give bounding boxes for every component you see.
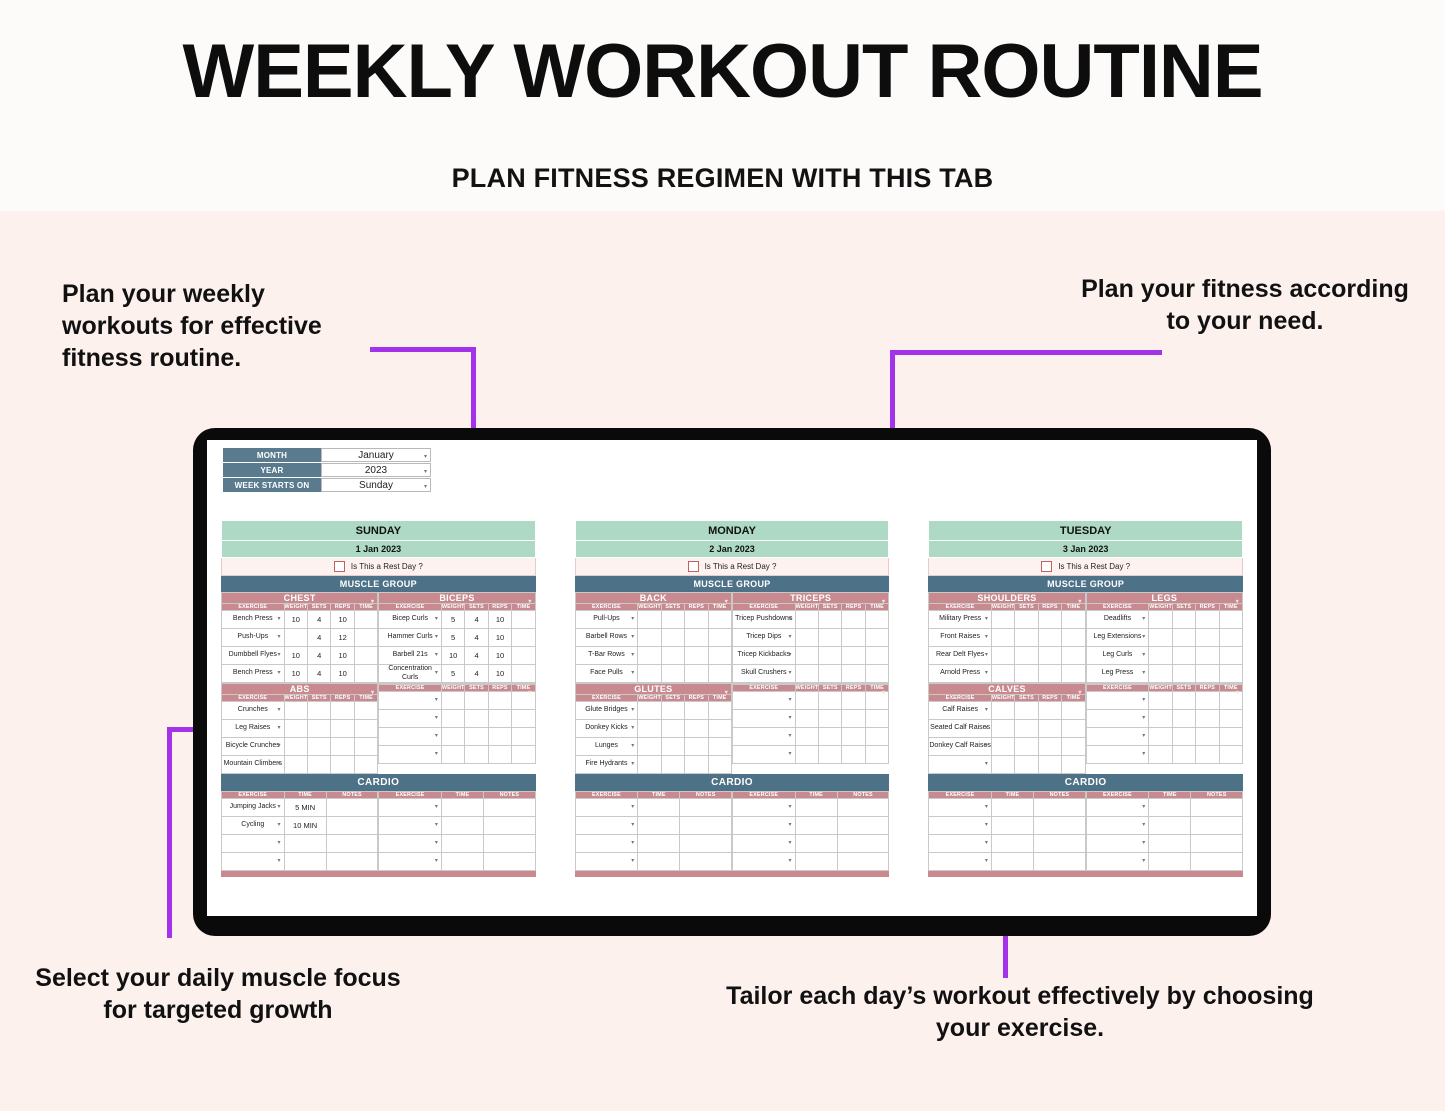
sets-cell[interactable] [819,710,842,728]
weight-cell[interactable] [991,756,1014,774]
cardio-exercise-dropdown[interactable]: ▾ [379,853,442,871]
cardio-notes-cell[interactable] [1034,799,1086,817]
weight-cell[interactable]: 10 [284,611,307,629]
sets-cell[interactable] [1015,720,1038,738]
chevron-down-icon[interactable]: ▾ [435,804,438,811]
time-cell[interactable] [1219,629,1242,647]
sets-cell[interactable] [819,728,842,746]
chevron-down-icon[interactable]: ▾ [278,616,281,623]
weight-cell[interactable]: 5 [441,629,464,647]
sets-cell[interactable] [1172,728,1195,746]
chevron-down-icon[interactable]: ▾ [789,840,792,847]
cardio-notes-cell[interactable] [1191,853,1243,871]
cardio-time-cell[interactable] [441,799,483,817]
reps-cell[interactable] [685,756,708,774]
reps-cell[interactable] [842,710,865,728]
reps-cell[interactable] [488,728,511,746]
cardio-time-cell[interactable] [1149,853,1191,871]
reps-cell[interactable] [1196,746,1219,764]
exercise-dropdown[interactable]: Tricep Dips▾ [733,629,796,647]
reps-cell[interactable] [1196,728,1219,746]
cardio-time-cell[interactable] [284,853,326,871]
chevron-down-icon[interactable]: ▾ [789,804,792,811]
sets-cell[interactable] [661,702,684,720]
time-cell[interactable] [708,665,731,683]
cardio-time-cell[interactable] [638,799,680,817]
reps-cell[interactable] [1196,611,1219,629]
chevron-down-icon[interactable]: ▾ [789,751,792,758]
cardio-notes-cell[interactable] [837,817,889,835]
exercise-dropdown[interactable]: Hammer Curls▾ [379,629,442,647]
cardio-exercise-dropdown[interactable]: Cycling▾ [222,817,285,835]
reps-cell[interactable] [1038,611,1061,629]
cardio-exercise-dropdown[interactable]: ▾ [222,835,285,853]
exercise-dropdown[interactable]: Arnold Press▾ [929,665,992,683]
cardio-notes-cell[interactable] [837,799,889,817]
chevron-down-icon[interactable]: ▾ [1142,733,1145,740]
chevron-down-icon[interactable]: ▾ [985,804,988,811]
weight-cell[interactable]: 10 [284,647,307,665]
chevron-down-icon[interactable]: ▾ [1142,670,1145,677]
weight-cell[interactable] [284,756,307,774]
cardio-notes-cell[interactable] [1191,835,1243,853]
chevron-down-icon[interactable]: ▾ [985,652,988,659]
cardio-exercise-dropdown[interactable]: ▾ [929,853,992,871]
time-cell[interactable] [865,647,888,665]
time-cell[interactable] [512,710,535,728]
weight-cell[interactable] [991,611,1014,629]
exercise-dropdown[interactable]: ▾ [733,746,796,764]
cardio-notes-cell[interactable] [484,853,536,871]
cardio-time-cell[interactable] [991,835,1033,853]
exercise-dropdown[interactable]: ▾ [733,728,796,746]
cardio-notes-cell[interactable] [326,853,378,871]
chevron-down-icon[interactable]: ▾ [631,725,634,732]
chevron-down-icon[interactable]: ▾ [985,858,988,865]
reps-cell[interactable] [1196,710,1219,728]
chevron-down-icon[interactable]: ▾ [1078,689,1081,696]
exercise-dropdown[interactable]: ▾ [1086,692,1149,710]
time-cell[interactable] [354,738,377,756]
chevron-down-icon[interactable]: ▾ [435,670,438,677]
cardio-exercise-dropdown[interactable]: ▾ [1086,835,1149,853]
time-cell[interactable] [354,720,377,738]
chevron-down-icon[interactable]: ▾ [278,761,281,768]
chevron-down-icon[interactable]: ▾ [631,840,634,847]
cardio-notes-cell[interactable] [326,835,378,853]
reps-cell[interactable]: 10 [488,647,511,665]
cardio-notes-cell[interactable] [1191,799,1243,817]
sets-cell[interactable] [1015,702,1038,720]
cardio-time-cell[interactable] [284,835,326,853]
weight-cell[interactable] [441,728,464,746]
cardio-notes-cell[interactable] [680,835,732,853]
sets-cell[interactable] [1172,611,1195,629]
cardio-notes-cell[interactable] [1034,835,1086,853]
chevron-down-icon[interactable]: ▾ [789,652,792,659]
exercise-dropdown[interactable]: Seated Calf Raises▾ [929,720,992,738]
sets-cell[interactable] [465,746,488,764]
weight-cell[interactable] [638,738,661,756]
cardio-exercise-dropdown[interactable]: ▾ [379,835,442,853]
chevron-down-icon[interactable]: ▾ [631,616,634,623]
cardio-exercise-dropdown[interactable]: ▾ [575,835,638,853]
chevron-down-icon[interactable]: ▾ [278,707,281,714]
weight-cell[interactable] [441,746,464,764]
time-cell[interactable] [865,629,888,647]
chevron-down-icon[interactable]: ▾ [424,483,427,490]
exercise-dropdown[interactable]: ▾ [379,728,442,746]
time-cell[interactable] [1062,629,1085,647]
time-cell[interactable] [512,647,535,665]
chevron-down-icon[interactable]: ▾ [631,652,634,659]
cardio-time-cell[interactable] [795,835,837,853]
weight-cell[interactable] [441,692,464,710]
chevron-down-icon[interactable]: ▾ [424,453,427,460]
cardio-exercise-dropdown[interactable]: ▾ [1086,853,1149,871]
chevron-down-icon[interactable]: ▾ [1142,858,1145,865]
time-cell[interactable] [1062,611,1085,629]
cardio-notes-cell[interactable] [484,799,536,817]
weight-cell[interactable] [1149,611,1172,629]
weight-cell[interactable] [1149,710,1172,728]
exercise-dropdown[interactable]: Rear Delt Flyes▾ [929,647,992,665]
weight-cell[interactable] [991,720,1014,738]
time-cell[interactable] [1062,738,1085,756]
chevron-down-icon[interactable]: ▾ [278,822,281,829]
sets-cell[interactable] [1172,629,1195,647]
rest-day-checkbox[interactable] [334,561,345,572]
sets-cell[interactable] [1015,629,1038,647]
exercise-dropdown[interactable]: T-Bar Rows▾ [575,647,638,665]
weight-cell[interactable] [1149,629,1172,647]
cardio-exercise-dropdown[interactable]: ▾ [733,799,796,817]
chevron-down-icon[interactable]: ▾ [435,733,438,740]
chevron-down-icon[interactable]: ▾ [435,751,438,758]
weight-cell[interactable] [638,629,661,647]
weight-cell[interactable] [795,629,818,647]
sets-cell[interactable] [1172,710,1195,728]
cardio-exercise-dropdown[interactable]: Jumping Jacks▾ [222,799,285,817]
cardio-time-cell[interactable] [638,835,680,853]
chevron-down-icon[interactable]: ▾ [435,822,438,829]
exercise-dropdown[interactable]: Concentration Curls▾ [379,665,442,683]
exercise-dropdown[interactable]: Donkey Kicks▾ [575,720,638,738]
reps-cell[interactable] [1196,692,1219,710]
sets-cell[interactable] [307,756,330,774]
time-cell[interactable] [354,629,377,647]
reps-cell[interactable] [842,692,865,710]
chevron-down-icon[interactable]: ▾ [985,761,988,768]
cardio-time-cell[interactable] [795,817,837,835]
cardio-notes-cell[interactable] [837,853,889,871]
exercise-dropdown[interactable]: ▾ [1086,728,1149,746]
sets-cell[interactable] [819,611,842,629]
reps-cell[interactable] [685,665,708,683]
cardio-notes-cell[interactable] [484,835,536,853]
reps-cell[interactable] [331,756,354,774]
cardio-exercise-dropdown[interactable]: ▾ [222,853,285,871]
cardio-time-cell[interactable] [441,835,483,853]
muscle-group-selector[interactable]: LEGS▾ [1086,593,1242,604]
cardio-time-cell[interactable] [638,853,680,871]
weight-cell[interactable] [991,629,1014,647]
sets-cell[interactable] [1015,756,1038,774]
exercise-dropdown[interactable]: Calf Raises▾ [929,702,992,720]
chevron-down-icon[interactable]: ▾ [725,598,728,605]
weight-cell[interactable] [991,702,1014,720]
chevron-down-icon[interactable]: ▾ [435,652,438,659]
chevron-down-icon[interactable]: ▾ [1142,616,1145,623]
exercise-dropdown[interactable]: ▾ [733,692,796,710]
weight-cell[interactable] [284,629,307,647]
cardio-exercise-dropdown[interactable]: ▾ [575,799,638,817]
cardio-time-cell[interactable] [441,853,483,871]
reps-cell[interactable]: 10 [488,665,511,683]
exercise-dropdown[interactable]: ▾ [1086,710,1149,728]
cardio-time-cell[interactable]: 10 MIN [284,817,326,835]
chevron-down-icon[interactable]: ▾ [1236,598,1239,605]
sets-cell[interactable] [465,728,488,746]
chevron-down-icon[interactable]: ▾ [882,689,885,696]
exercise-dropdown[interactable]: ▾ [379,692,442,710]
reps-cell[interactable] [1038,738,1061,756]
weight-cell[interactable] [284,702,307,720]
cardio-exercise-dropdown[interactable]: ▾ [733,853,796,871]
sets-cell[interactable] [1015,611,1038,629]
time-cell[interactable] [512,665,535,683]
time-cell[interactable] [1219,710,1242,728]
time-cell[interactable] [354,647,377,665]
cardio-time-cell[interactable] [1149,835,1191,853]
chevron-down-icon[interactable]: ▾ [278,725,281,732]
reps-cell[interactable] [331,738,354,756]
time-cell[interactable] [865,611,888,629]
weight-cell[interactable] [284,738,307,756]
cardio-notes-cell[interactable] [484,817,536,835]
sets-cell[interactable] [819,746,842,764]
chevron-down-icon[interactable]: ▾ [371,689,374,696]
reps-cell[interactable] [1038,647,1061,665]
reps-cell[interactable]: 10 [488,629,511,647]
chevron-down-icon[interactable]: ▾ [1142,634,1145,641]
reps-cell[interactable] [842,746,865,764]
weight-cell[interactable] [795,647,818,665]
setting-value-dropdown[interactable]: January▾ [321,448,431,462]
sets-cell[interactable]: 4 [465,647,488,665]
exercise-dropdown[interactable]: Skull Crushers▾ [733,665,796,683]
cardio-exercise-dropdown[interactable]: ▾ [575,817,638,835]
sets-cell[interactable] [1015,647,1038,665]
cardio-exercise-dropdown[interactable]: ▾ [1086,799,1149,817]
chevron-down-icon[interactable]: ▾ [985,822,988,829]
time-cell[interactable] [1219,611,1242,629]
time-cell[interactable] [1062,720,1085,738]
exercise-dropdown[interactable]: ▾ [379,746,442,764]
chevron-down-icon[interactable]: ▾ [1142,715,1145,722]
chevron-down-icon[interactable]: ▾ [1078,598,1081,605]
chevron-down-icon[interactable]: ▾ [631,634,634,641]
sets-cell[interactable]: 4 [307,611,330,629]
sets-cell[interactable] [661,738,684,756]
time-cell[interactable] [1062,647,1085,665]
cardio-notes-cell[interactable] [326,817,378,835]
exercise-dropdown[interactable]: Military Press▾ [929,611,992,629]
sets-cell[interactable] [465,710,488,728]
cardio-notes-cell[interactable] [680,817,732,835]
weight-cell[interactable]: 10 [441,647,464,665]
exercise-dropdown[interactable]: Glute Bridges▾ [575,702,638,720]
weight-cell[interactable] [284,720,307,738]
chevron-down-icon[interactable]: ▾ [789,697,792,704]
exercise-dropdown[interactable]: Lunges▾ [575,738,638,756]
weight-cell[interactable] [1149,746,1172,764]
sets-cell[interactable] [1015,738,1038,756]
chevron-down-icon[interactable]: ▾ [631,761,634,768]
exercise-dropdown[interactable]: Fire Hydrants▾ [575,756,638,774]
exercise-dropdown[interactable]: Bicep Curls▾ [379,611,442,629]
chevron-down-icon[interactable]: ▾ [1142,697,1145,704]
exercise-dropdown[interactable]: Face Pulls▾ [575,665,638,683]
chevron-down-icon[interactable]: ▾ [985,616,988,623]
weight-cell[interactable] [1149,692,1172,710]
cardio-notes-cell[interactable] [326,799,378,817]
reps-cell[interactable] [685,702,708,720]
time-cell[interactable] [1062,756,1085,774]
sets-cell[interactable] [661,629,684,647]
weight-cell[interactable] [795,692,818,710]
weight-cell[interactable] [638,665,661,683]
cardio-exercise-dropdown[interactable]: ▾ [929,799,992,817]
weight-cell[interactable] [991,665,1014,683]
muscle-group-selector[interactable]: ABS▾ [222,684,378,695]
time-cell[interactable] [865,746,888,764]
chevron-down-icon[interactable]: ▾ [278,804,281,811]
chevron-down-icon[interactable]: ▾ [424,468,427,475]
reps-cell[interactable] [842,611,865,629]
time-cell[interactable] [708,611,731,629]
chevron-down-icon[interactable]: ▾ [371,598,374,605]
time-cell[interactable] [1219,728,1242,746]
chevron-down-icon[interactable]: ▾ [789,733,792,740]
chevron-down-icon[interactable]: ▾ [278,840,281,847]
time-cell[interactable] [1219,665,1242,683]
chevron-down-icon[interactable]: ▾ [435,616,438,623]
cardio-exercise-dropdown[interactable]: ▾ [929,835,992,853]
cardio-notes-cell[interactable] [1191,817,1243,835]
chevron-down-icon[interactable]: ▾ [278,652,281,659]
weight-cell[interactable] [638,611,661,629]
muscle-group-selector[interactable]: TRICEPS▾ [733,593,889,604]
chevron-down-icon[interactable]: ▾ [985,670,988,677]
sets-cell[interactable] [819,665,842,683]
reps-cell[interactable] [488,692,511,710]
exercise-dropdown[interactable]: Tricep Kickbacks▾ [733,647,796,665]
reps-cell[interactable]: 12 [331,629,354,647]
chevron-down-icon[interactable]: ▾ [985,743,988,750]
time-cell[interactable] [512,629,535,647]
rest-day-checkbox[interactable] [688,561,699,572]
exercise-dropdown[interactable]: Front Raises▾ [929,629,992,647]
cardio-notes-cell[interactable] [680,799,732,817]
muscle-group-selector[interactable]: ▾ [379,684,535,685]
exercise-dropdown[interactable]: Dumbbell Flyes▾ [222,647,285,665]
exercise-dropdown[interactable]: Bench Press▾ [222,611,285,629]
chevron-down-icon[interactable]: ▾ [631,804,634,811]
sets-cell[interactable]: 4 [307,629,330,647]
chevron-down-icon[interactable]: ▾ [1142,751,1145,758]
sets-cell[interactable] [307,702,330,720]
muscle-group-selector[interactable]: ▾ [733,684,889,685]
weight-cell[interactable] [638,756,661,774]
reps-cell[interactable]: 10 [331,611,354,629]
cardio-time-cell[interactable] [638,817,680,835]
chevron-down-icon[interactable]: ▾ [278,858,281,865]
sets-cell[interactable]: 4 [307,665,330,683]
reps-cell[interactable] [1038,665,1061,683]
chevron-down-icon[interactable]: ▾ [882,598,885,605]
weight-cell[interactable] [638,720,661,738]
time-cell[interactable] [865,710,888,728]
weight-cell[interactable]: 10 [284,665,307,683]
exercise-dropdown[interactable]: Mountain Climbers▾ [222,756,285,774]
sets-cell[interactable] [1172,746,1195,764]
muscle-group-selector[interactable]: SHOULDERS▾ [929,593,1085,604]
sets-cell[interactable] [661,720,684,738]
reps-cell[interactable] [685,629,708,647]
exercise-dropdown[interactable]: Push-Ups▾ [222,629,285,647]
sets-cell[interactable] [661,665,684,683]
chevron-down-icon[interactable]: ▾ [435,715,438,722]
reps-cell[interactable] [842,728,865,746]
chevron-down-icon[interactable]: ▾ [985,634,988,641]
exercise-dropdown[interactable]: Bench Press▾ [222,665,285,683]
cardio-notes-cell[interactable] [837,835,889,853]
cardio-time-cell[interactable] [991,853,1033,871]
weight-cell[interactable]: 5 [441,611,464,629]
exercise-dropdown[interactable]: Barbell Rows▾ [575,629,638,647]
weight-cell[interactable] [638,647,661,665]
cardio-exercise-dropdown[interactable]: ▾ [733,817,796,835]
time-cell[interactable] [865,665,888,683]
cardio-time-cell[interactable] [991,799,1033,817]
weight-cell[interactable] [1149,665,1172,683]
chevron-down-icon[interactable]: ▾ [789,670,792,677]
chevron-down-icon[interactable]: ▾ [528,689,531,696]
sets-cell[interactable]: 4 [465,611,488,629]
exercise-dropdown[interactable]: Leg Curls▾ [1086,647,1149,665]
chevron-down-icon[interactable]: ▾ [789,822,792,829]
cardio-notes-cell[interactable] [1034,853,1086,871]
exercise-dropdown[interactable]: Deadlifts▾ [1086,611,1149,629]
muscle-group-selector[interactable]: BACK▾ [575,593,731,604]
chevron-down-icon[interactable]: ▾ [789,616,792,623]
reps-cell[interactable] [331,702,354,720]
setting-value-dropdown[interactable]: Sunday▾ [321,478,431,492]
chevron-down-icon[interactable]: ▾ [278,634,281,641]
setting-value-dropdown[interactable]: 2023▾ [321,463,431,477]
cardio-time-cell[interactable] [1149,799,1191,817]
chevron-down-icon[interactable]: ▾ [278,743,281,750]
sets-cell[interactable] [661,756,684,774]
time-cell[interactable] [354,611,377,629]
chevron-down-icon[interactable]: ▾ [278,670,281,677]
chevron-down-icon[interactable]: ▾ [631,858,634,865]
cardio-time-cell[interactable] [441,817,483,835]
sets-cell[interactable] [465,692,488,710]
time-cell[interactable] [708,738,731,756]
rest-day-checkbox[interactable] [1041,561,1052,572]
